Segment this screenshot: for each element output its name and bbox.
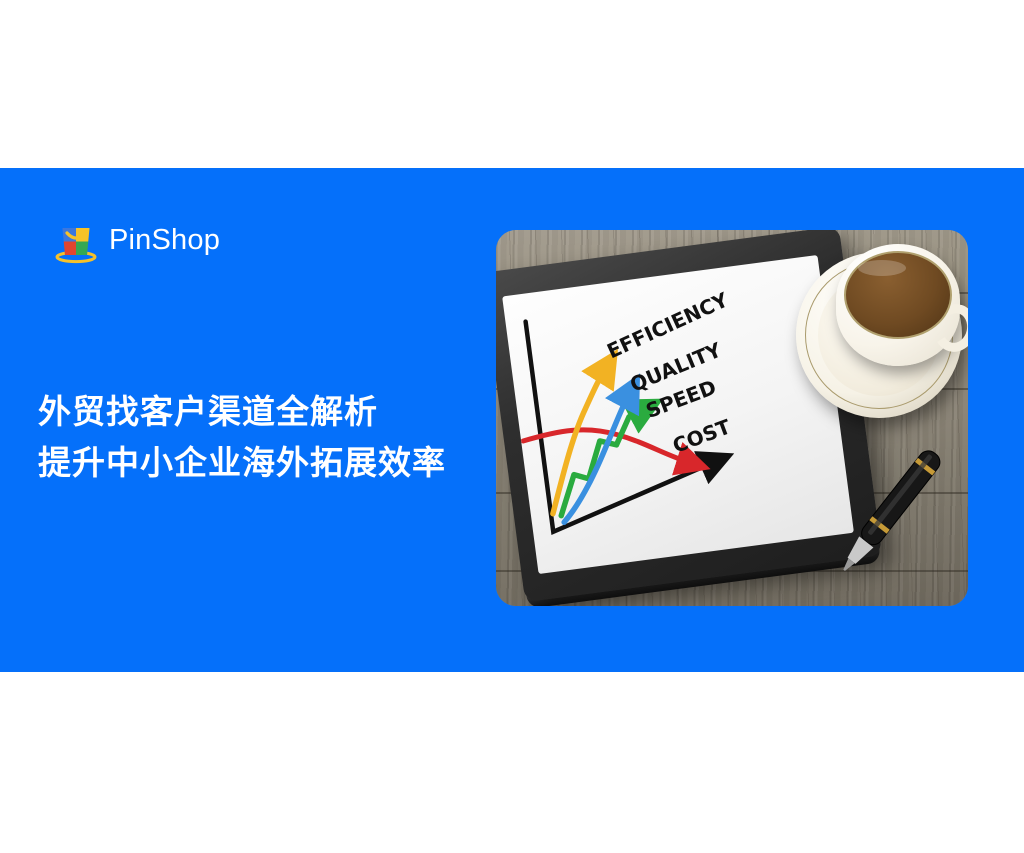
headline-line-1: 外贸找客户渠道全解析 bbox=[38, 386, 446, 437]
poster-canvas: PinShop 外贸找客户渠道全解析 提升中小企业海外拓展效率 bbox=[0, 0, 1024, 853]
series-label-cost: COST bbox=[669, 414, 734, 458]
headline-line-2: 提升中小企业海外拓展效率 bbox=[38, 437, 446, 488]
shopping-bag-icon bbox=[52, 216, 100, 264]
brand-lockup[interactable]: PinShop bbox=[52, 216, 220, 264]
brand-name: PinShop bbox=[109, 226, 220, 255]
coffee-cup bbox=[836, 244, 960, 366]
fountain-pen bbox=[834, 442, 968, 592]
page-title: 外贸找客户渠道全解析 提升中小企业海外拓展效率 bbox=[38, 386, 446, 488]
hero-photo-tablet-desk: EFFICIENCY QUALITY SPEED COST bbox=[496, 230, 968, 606]
